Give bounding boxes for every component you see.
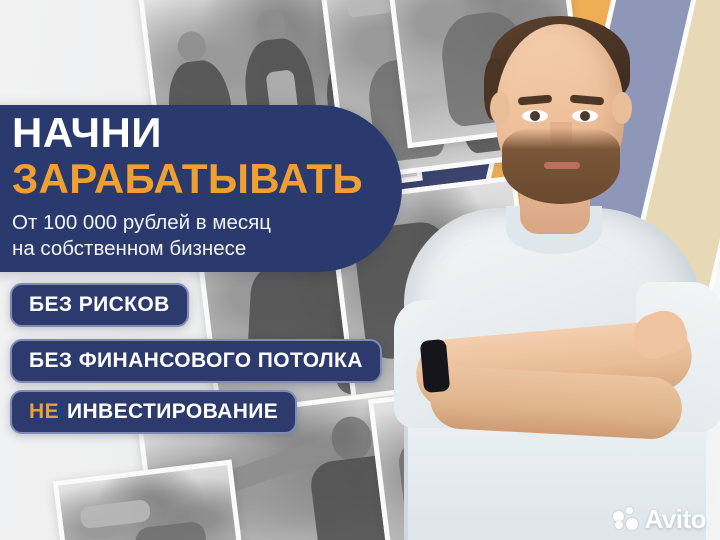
avito-watermark: Avito (613, 506, 706, 532)
badge-no-risks: БЕЗ РИСКОВ (10, 283, 189, 327)
subject-photo-man (398, 0, 720, 540)
avito-brand-text: Avito (644, 506, 706, 532)
badge-label: БЕЗ ФИНАНСОВОГО ПОТОЛКА (29, 349, 363, 373)
badge-not-investment: НЕ ИНВЕСТИРОВАНИЕ (10, 390, 297, 434)
badge-accent-label: НЕ (29, 400, 59, 424)
headline-line-2: ЗАРАБАТЫВАТЬ (12, 157, 374, 201)
badge-label: ИНВЕСТИРОВАНИЕ (67, 400, 278, 424)
badge-no-income-ceiling: БЕЗ ФИНАНСОВОГО ПОТОЛКА (10, 339, 382, 383)
avito-dots-icon (613, 507, 639, 531)
wristwatch (420, 339, 450, 393)
headline-panel: НАЧНИ ЗАРАБАТЫВАТЬ От 100 000 рублей в м… (0, 105, 402, 272)
avito-ad-banner: НАЧНИ ЗАРАБАТЫВАТЬ От 100 000 рублей в м… (0, 0, 720, 540)
collage-photo (53, 460, 248, 540)
headline-subtitle: От 100 000 рублей в месяц на собственном… (12, 210, 374, 262)
headline-line-1: НАЧНИ (12, 111, 374, 155)
badge-label: БЕЗ РИСКОВ (29, 293, 170, 317)
